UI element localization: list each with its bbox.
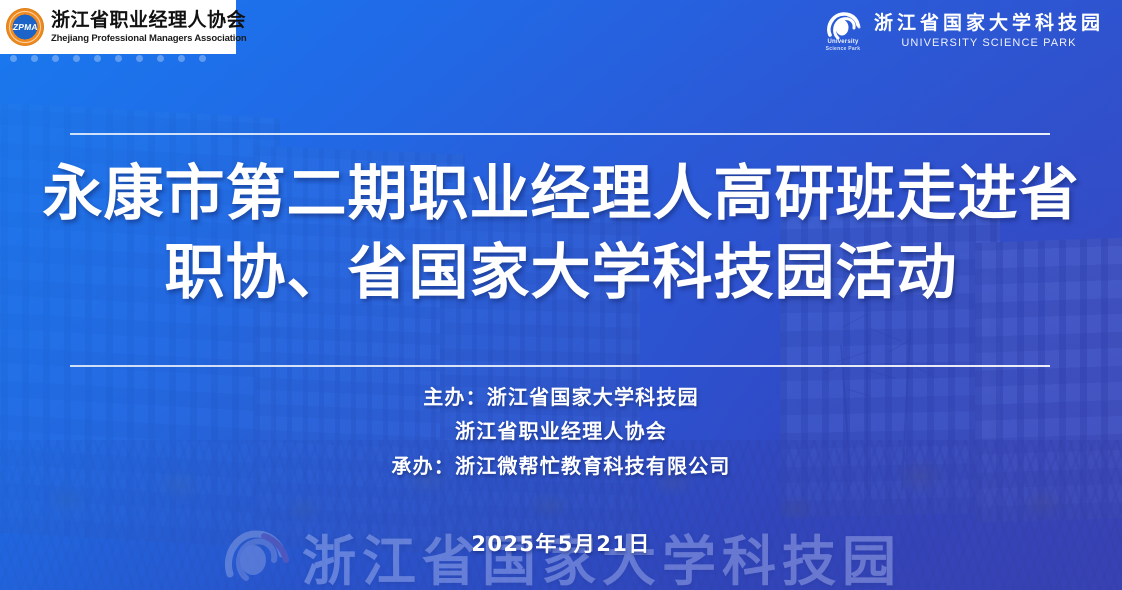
park-logo-label-2: Science Park [822, 46, 864, 52]
decorative-dot [94, 55, 101, 62]
decorative-dot [178, 55, 185, 62]
event-title: 永康市第二期职业经理人高研班走进省 职协、省国家大学科技园活动 [0, 155, 1122, 313]
decorative-dot [115, 55, 122, 62]
association-header-bar: ZPMA 浙江省职业经理人协会 Zhejiang Professional Ma… [0, 0, 236, 54]
decorative-dots-row [10, 55, 206, 62]
event-title-line-2: 职协、省国家大学科技园活动 [0, 234, 1122, 313]
science-park-text-block: 浙江省国家大学科技园 UNIVERSITY SCIENCE PARK [874, 14, 1104, 49]
globe-glyph [825, 10, 861, 42]
decorative-dot [31, 55, 38, 62]
divider-line-top [70, 133, 1050, 135]
science-park-header: University Science Park 浙江省国家大学科技园 UNIVE… [822, 10, 1104, 52]
organizer-block: 主办：浙江省国家大学科技园 浙江省职业经理人协会 承办：浙江微帮忙教育科技有限公… [0, 380, 1122, 483]
university-science-park-logo-icon: University Science Park [822, 10, 864, 52]
divider-line-bottom [70, 365, 1050, 367]
event-title-line-1: 永康市第二期职业经理人高研班走进省 [0, 155, 1122, 234]
science-park-name-en: UNIVERSITY SCIENCE PARK [874, 38, 1104, 49]
decorative-dot [136, 55, 143, 62]
event-banner: 浙江省国家大学科技园 ZPMA 浙江省职业经理人协会 Zhejiang Prof… [0, 0, 1122, 590]
decorative-dot [52, 55, 59, 62]
association-name-en: Zhejiang Professional Managers Associati… [51, 34, 247, 44]
association-text-block: 浙江省职业经理人协会 Zhejiang Professional Manager… [51, 11, 247, 44]
event-date: 2025年5月21日 [0, 528, 1122, 558]
association-name-cn: 浙江省职业经理人协会 [51, 11, 247, 30]
decorative-dot [10, 55, 17, 62]
organizer-line-2: 浙江省职业经理人协会 [0, 414, 1122, 448]
decorative-dot [199, 55, 206, 62]
organizer-line-1: 主办：浙江省国家大学科技园 [0, 380, 1122, 414]
decorative-dot [157, 55, 164, 62]
park-logo-label-1: University [822, 39, 864, 45]
science-park-name-cn: 浙江省国家大学科技园 [874, 14, 1104, 33]
decorative-dot [73, 55, 80, 62]
zpma-badge-icon: ZPMA [6, 8, 44, 46]
badge-mark-text: ZPMA [12, 22, 38, 32]
organizer-line-3: 承办：浙江微帮忙教育科技有限公司 [0, 449, 1122, 483]
